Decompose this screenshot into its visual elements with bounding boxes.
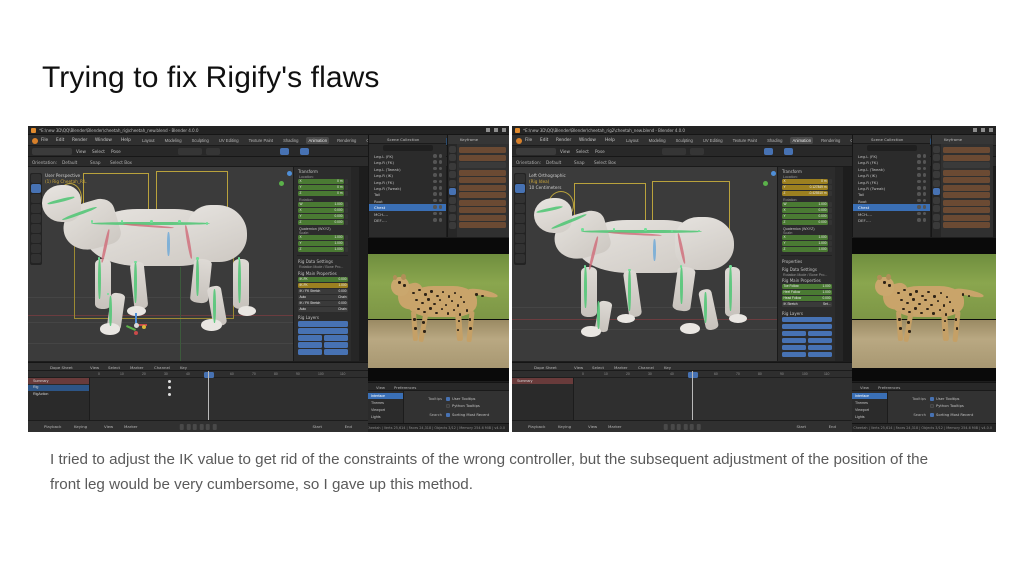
prefs-nav-viewport[interactable]: Viewport	[368, 407, 403, 413]
workspace-tab-animation[interactable]: Animation	[790, 137, 813, 144]
workspace-tab-modeling[interactable]: Modeling	[163, 137, 184, 144]
bone-leg-fl2[interactable]	[597, 301, 600, 329]
view-menu[interactable]: View	[104, 424, 113, 429]
properties-tab-column[interactable]	[448, 144, 457, 237]
outliner-row-10[interactable]: DEF-...	[853, 217, 930, 223]
rig-data-row[interactable]: Rotation Mode / Bone Pro...	[294, 265, 351, 269]
rig-layer-fk-l[interactable]	[782, 338, 806, 344]
workspace-tab-texpaint[interactable]: Texture Paint	[247, 137, 275, 144]
constraint-row-7[interactable]	[459, 200, 506, 206]
rig-layer-fk-l[interactable]	[298, 342, 322, 348]
channel-rig[interactable]: Rig	[28, 385, 89, 391]
field-rotation-z[interactable]: Z0.000	[782, 220, 828, 225]
workspace-tab-layout[interactable]: Layout	[140, 137, 157, 144]
menu-window[interactable]: Window	[579, 138, 596, 143]
constraint-row-3[interactable]	[459, 170, 506, 176]
window-controls[interactable]	[973, 128, 993, 132]
render-icon[interactable]	[439, 160, 443, 164]
preferences-body[interactable]: Tooltips User Tooltips Python Tooltips S…	[888, 391, 996, 423]
data-icon[interactable]	[449, 214, 456, 221]
lock-icon[interactable]	[345, 220, 348, 225]
bone-spine[interactable]	[581, 230, 702, 233]
keyframe[interactable]	[168, 386, 171, 389]
playback-menu[interactable]: Playback	[44, 424, 61, 429]
end-frame-label[interactable]: End	[829, 424, 836, 429]
material-icon[interactable]	[449, 222, 456, 229]
render-icon[interactable]	[923, 218, 927, 222]
viewport-menu-view[interactable]: View	[76, 149, 86, 154]
jump-end-icon[interactable]	[212, 424, 216, 430]
field-rotation-w[interactable]: W1.000	[298, 202, 344, 207]
panel-title-rig-main-properties[interactable]: Rig Main Properties	[778, 277, 835, 285]
constraint-row-0[interactable]	[943, 147, 990, 153]
eye-icon[interactable]	[917, 180, 921, 184]
dopesheet-mode-label[interactable]: Dope Sheet	[50, 365, 73, 370]
field-head-follow[interactable]: Head Follow0.000	[782, 296, 832, 301]
scale-tool-icon[interactable]	[515, 224, 525, 233]
properties-header[interactable]: Keyframe	[448, 135, 509, 144]
prefs-menu-view[interactable]: View	[376, 385, 385, 390]
preferences-window-left[interactable]: View Preferences Interface Themes Viewpo…	[368, 382, 509, 432]
keyframe[interactable]	[168, 380, 171, 383]
rotation-fields[interactable]: W1.000 X0.000 Y0.000 Z0.000	[778, 202, 835, 227]
properties-editor-left[interactable]: Keyframe	[447, 135, 509, 237]
bone-leg-fl[interactable]	[584, 267, 587, 308]
blender-logo-icon[interactable]	[32, 138, 38, 144]
checkbox-icon[interactable]	[446, 413, 450, 417]
outliner-header[interactable]: Scene Collection	[853, 135, 930, 144]
channel-summary[interactable]: Summary	[28, 378, 89, 384]
eye-icon[interactable]	[917, 160, 921, 164]
constraint-row-2[interactable]	[943, 162, 990, 168]
field-location-y[interactable]: Y0.127849 m	[782, 185, 828, 190]
playback-transport-controls[interactable]	[664, 424, 701, 430]
playhead[interactable]	[208, 371, 209, 420]
dopesheet-menu-select[interactable]: Select	[592, 365, 604, 370]
timeline-footer[interactable]: Playback Keying View Marker Start End	[512, 420, 852, 432]
dopesheet-frame-ruler[interactable]: 0 10 20 30 40 60 70 80 90 100 110	[28, 371, 368, 378]
viewport-3d-left[interactable]: User Perspective (1) Rig Cheetah_R.L	[28, 167, 311, 361]
prefs-nav-lights[interactable]: Lights	[852, 414, 887, 420]
blender-logo-icon[interactable]	[516, 138, 522, 144]
render-icon[interactable]	[439, 186, 443, 190]
toolbar-left[interactable]	[514, 173, 526, 265]
checkbox-icon[interactable]	[930, 404, 934, 408]
render-icon[interactable]	[923, 154, 927, 158]
bone-leg-fl[interactable]	[98, 259, 101, 299]
playback-transport-controls[interactable]	[180, 424, 217, 430]
constraint-row-10[interactable]	[943, 222, 990, 228]
rotate-tool-icon[interactable]	[31, 214, 41, 223]
prefs-sorting-checkbox[interactable]: Sorting Most Recent	[930, 413, 973, 417]
viewport-menu-select[interactable]: Select	[92, 149, 105, 154]
checkbox-icon[interactable]	[446, 397, 450, 401]
render-icon[interactable]	[923, 192, 927, 196]
constraint-row-8[interactable]	[943, 207, 990, 213]
dopesheet-menu-view[interactable]: View	[90, 365, 99, 370]
next-keyframe-icon[interactable]	[206, 424, 210, 430]
panel-title-rig-data-settings[interactable]: Rig Data Settings	[778, 265, 835, 273]
constraint-row-5[interactable]	[943, 185, 990, 191]
rig-layer-fk-r[interactable]	[324, 342, 348, 348]
sidebar-n-panel-left[interactable]: Transform Location: X0 m Y0 m Z0 m Rotat…	[293, 167, 351, 361]
field-scale-y[interactable]: Y1.000	[298, 241, 344, 246]
snap-toggle[interactable]	[690, 148, 704, 155]
field-location-y[interactable]: Y0 m	[298, 185, 344, 190]
outliner-left[interactable]: Scene Collection Leg.L (FK) Leg.R (FK) L…	[368, 135, 446, 237]
render-icon[interactable]	[449, 154, 456, 161]
scale-tool-icon[interactable]	[31, 224, 41, 233]
field-rotation-x[interactable]: X0.000	[298, 208, 344, 213]
eye-icon[interactable]	[433, 160, 437, 164]
prefs-sorting-checkbox[interactable]: Sorting Most Recent	[446, 413, 489, 417]
lock-icon[interactable]	[345, 241, 348, 246]
prefs-menu-preferences[interactable]: Preferences	[394, 385, 416, 390]
rig-layer-chest[interactable]	[782, 324, 832, 330]
preferences-nav[interactable]: Interface Themes Viewport Lights	[368, 391, 404, 423]
prefs-python-tooltips-checkbox[interactable]: Python Tooltips	[930, 404, 964, 408]
render-icon[interactable]	[439, 173, 443, 177]
prefs-menu-view[interactable]: View	[860, 385, 869, 390]
field-location-z[interactable]: Z-0.425510 m	[782, 191, 828, 196]
rig-layer-fk-r[interactable]	[808, 338, 832, 344]
keying-menu[interactable]: Keying	[558, 424, 571, 429]
properties-tab-column[interactable]	[932, 144, 941, 237]
eye-icon[interactable]	[917, 192, 921, 196]
rig-layer-tweak-l[interactable]	[782, 345, 806, 351]
jump-end-icon[interactable]	[696, 424, 700, 430]
minimize-icon[interactable]	[486, 128, 490, 132]
outliner-display-mode[interactable]: Scene Collection	[387, 137, 419, 142]
jump-start-icon[interactable]	[180, 424, 184, 430]
field-rotation-z[interactable]: Z0.000	[298, 220, 344, 225]
output-icon[interactable]	[933, 163, 940, 170]
lock-icon[interactable]	[345, 191, 348, 196]
view-layer-icon[interactable]	[449, 171, 456, 178]
lock-icon[interactable]	[829, 202, 832, 207]
dopesheet-channel-list[interactable]: Summary	[512, 378, 574, 420]
select-box-label[interactable]: Select Box	[110, 160, 132, 165]
jump-start-icon[interactable]	[664, 424, 668, 430]
panel-title-rig-main-properties[interactable]: Rig Main Properties	[294, 269, 351, 277]
tweak-tool-icon[interactable]	[515, 174, 525, 183]
preferences-body[interactable]: Tooltips User Tooltips Python Tooltips S…	[404, 391, 509, 423]
workspace-tab-animation[interactable]: Animation	[306, 137, 329, 144]
transform-pivot-selector[interactable]	[662, 148, 686, 155]
rig-main-properties-rows[interactable]: IK-FK0.000 IK-FK1.000 IK / FK Stretch0.0…	[294, 277, 351, 314]
transform-pivot-selector[interactable]	[178, 148, 202, 155]
eye-icon[interactable]	[917, 205, 921, 209]
render-icon[interactable]	[439, 154, 443, 158]
bone-leg-bl2[interactable]	[213, 289, 216, 323]
preferences-header[interactable]: View Preferences	[368, 383, 509, 391]
rigged-character-model[interactable]	[532, 189, 756, 345]
keying-menu[interactable]: Keying	[74, 424, 87, 429]
render-icon[interactable]	[439, 218, 443, 222]
workspace-tab-shading[interactable]: Shading	[765, 137, 784, 144]
field-rotation-y[interactable]: Y0.000	[782, 214, 828, 219]
render-icon[interactable]	[923, 160, 927, 164]
close-icon[interactable]	[502, 128, 506, 132]
proportional-edit-toggle[interactable]	[764, 148, 773, 155]
lock-icon[interactable]	[829, 241, 832, 246]
prefs-python-tooltips-checkbox[interactable]: Python Tooltips	[446, 404, 480, 408]
outliner-search-input[interactable]	[383, 145, 433, 151]
field-toe-follow[interactable]: Toe Follow1.000	[782, 284, 832, 289]
tool-icon[interactable]	[449, 146, 456, 153]
constraint-icon[interactable]	[449, 205, 456, 212]
outliner-right[interactable]: Scene Collection Leg.L (FK) Leg.R (FK) L…	[852, 135, 930, 237]
preferences-header[interactable]: View Preferences	[852, 383, 996, 391]
render-icon[interactable]	[933, 154, 940, 161]
modifier-icon[interactable]	[933, 197, 940, 204]
constraint-row-4[interactable]	[459, 177, 506, 183]
dopesheet-header[interactable]: Dope Sheet View Select Marker Channel Ke…	[28, 363, 368, 371]
rig-layer-tweak-r[interactable]	[808, 345, 832, 351]
lock-icon[interactable]	[345, 179, 348, 184]
play-reverse-icon[interactable]	[193, 424, 197, 430]
menu-help[interactable]: Help	[605, 138, 615, 143]
rig-layer-head-ik[interactable]	[298, 335, 322, 341]
workspace-tab-layout[interactable]: Layout	[624, 137, 641, 144]
constraint-row-1[interactable]	[943, 155, 990, 161]
play-icon[interactable]	[683, 424, 687, 430]
eye-icon[interactable]	[433, 180, 437, 184]
dopesheet-channel-list[interactable]: Summary Rig RigAction	[28, 378, 90, 420]
panel-title-rig-data-settings[interactable]: Rig Data Settings	[294, 258, 351, 266]
rigged-character-model[interactable]	[40, 175, 270, 343]
end-frame-label[interactable]: End	[345, 424, 352, 429]
checkbox-icon[interactable]	[446, 404, 450, 408]
eye-icon[interactable]	[433, 186, 437, 190]
menu-help[interactable]: Help	[121, 138, 131, 143]
render-icon[interactable]	[439, 205, 443, 209]
prefs-nav-themes[interactable]: Themes	[368, 400, 403, 406]
rig-layer-chest[interactable]	[298, 328, 348, 334]
prev-keyframe-icon[interactable]	[186, 424, 190, 430]
render-icon[interactable]	[923, 199, 927, 203]
checkbox-icon[interactable]	[930, 397, 934, 401]
menu-file[interactable]: File	[525, 138, 532, 143]
field-scale-x[interactable]: X1.000	[298, 235, 344, 240]
mode-selector[interactable]	[516, 148, 556, 155]
viewport-3d-right[interactable]: Left Orthographic (Rig Idea) 10 Centimet…	[512, 167, 795, 361]
rig-data-row[interactable]: Rotation Mode / Bone Pro...	[778, 273, 835, 277]
move-tool-icon[interactable]	[515, 204, 525, 213]
eye-icon[interactable]	[433, 218, 437, 222]
constraint-row-6[interactable]	[943, 192, 990, 198]
bone-leg-fl2[interactable]	[109, 296, 112, 326]
field-ikfk-1[interactable]: IK-FK1.000	[298, 283, 348, 288]
panel-title-rig-layers[interactable]: Rig Layers	[778, 309, 835, 317]
object-icon[interactable]	[449, 188, 456, 195]
render-icon[interactable]	[923, 205, 927, 209]
panel-title-rig-layers[interactable]: Rig Layers	[294, 314, 351, 322]
scene-icon[interactable]	[933, 180, 940, 187]
view-menu[interactable]: View	[588, 424, 597, 429]
rig-layer-spine[interactable]	[782, 317, 832, 323]
bone-leg-br[interactable]	[729, 267, 732, 311]
dopesheet-menu-marker[interactable]: Marker	[614, 365, 627, 370]
prefs-nav-interface[interactable]: Interface	[852, 393, 887, 399]
field-heel-follow[interactable]: Heel Follow1.000	[782, 290, 832, 295]
start-frame-label[interactable]: Start	[796, 424, 806, 429]
constraint-row-5[interactable]	[459, 185, 506, 191]
orientation-value[interactable]: Default	[546, 160, 561, 165]
constraint-row-4[interactable]	[943, 177, 990, 183]
workspace-tab-modeling[interactable]: Modeling	[647, 137, 668, 144]
panel-title-transform[interactable]: Transform	[778, 167, 835, 175]
rig-layer-tweak-l[interactable]	[298, 349, 322, 355]
render-icon[interactable]	[923, 173, 927, 177]
eye-icon[interactable]	[917, 186, 921, 190]
properties-editor-right[interactable]: Keyframe	[931, 135, 993, 237]
constraint-row-8[interactable]	[459, 207, 506, 213]
prefs-nav-interface[interactable]: Interface	[368, 393, 403, 399]
field-scale-z[interactable]: Z1.000	[782, 247, 828, 252]
lock-icon[interactable]	[345, 235, 348, 240]
workspace-tab-shading[interactable]: Shading	[281, 137, 300, 144]
location-fields[interactable]: X0 m Y0.127849 m Z-0.425510 m	[778, 179, 835, 198]
constraint-row-10[interactable]	[459, 222, 506, 228]
lock-icon[interactable]	[345, 247, 348, 252]
eye-icon[interactable]	[433, 212, 437, 216]
rig-layer-arm-r-ik[interactable]	[808, 331, 832, 337]
channel-summary[interactable]: Summary	[512, 378, 573, 384]
viewport-menu-select[interactable]: Select	[576, 149, 589, 154]
tool-icon[interactable]	[933, 146, 940, 153]
dopesheet-keyframe-area[interactable]	[90, 378, 368, 420]
keyframe[interactable]	[168, 393, 171, 396]
workspace-tab-texpaint[interactable]: Texture Paint	[731, 137, 759, 144]
modifier-icon[interactable]	[449, 197, 456, 204]
field-location-x[interactable]: X0 m	[782, 179, 828, 184]
constraint-row-3[interactable]	[943, 170, 990, 176]
panel-title-transform[interactable]: Transform	[294, 167, 351, 175]
prefs-nav-lights[interactable]: Lights	[368, 414, 403, 420]
rig-layer-tweak-r[interactable]	[324, 349, 348, 355]
prefs-user-tooltips-checkbox[interactable]: User Tooltips	[446, 397, 475, 401]
outliner-row-10[interactable]: DEF-...	[369, 217, 446, 223]
playhead[interactable]	[692, 371, 693, 420]
constraint-row-9[interactable]	[459, 215, 506, 221]
field-rotation-w[interactable]: W1.000	[782, 202, 828, 207]
scene-icon[interactable]	[449, 180, 456, 187]
render-icon[interactable]	[439, 167, 443, 171]
bone-ik-target[interactable]	[653, 239, 656, 261]
render-icon[interactable]	[439, 192, 443, 196]
toolbar-left[interactable]	[30, 173, 42, 265]
eye-icon[interactable]	[917, 199, 921, 203]
rig-layer-head-ik[interactable]	[782, 331, 806, 337]
menu-file[interactable]: File	[41, 138, 48, 143]
next-keyframe-icon[interactable]	[690, 424, 694, 430]
xray-toggle[interactable]	[300, 148, 309, 155]
dopesheet-menu-key[interactable]: Key	[180, 365, 187, 370]
rig-layer-leg-l-ik[interactable]	[782, 352, 806, 358]
eye-icon[interactable]	[433, 154, 437, 158]
bone-leg-br[interactable]	[238, 259, 241, 303]
minimize-icon[interactable]	[973, 128, 977, 132]
transform-tool-icon[interactable]	[515, 234, 525, 243]
scale-fields[interactable]: X1.000 Y1.000 Z1.000	[294, 235, 351, 254]
rig-layer-spine[interactable]	[298, 321, 348, 327]
start-frame-label[interactable]: Start	[312, 424, 322, 429]
timeline-footer[interactable]: Playback Keying View Marker Start End	[28, 420, 368, 432]
channel-rig-action[interactable]: RigAction	[28, 391, 89, 397]
outliner-header[interactable]: Scene Collection	[369, 135, 446, 144]
field-ik-stretch[interactable]: IK StretchSet...	[782, 302, 832, 307]
field-location-z[interactable]: Z0 m	[298, 191, 344, 196]
lock-icon[interactable]	[345, 208, 348, 213]
preferences-nav[interactable]: Interface Themes Viewport Lights	[852, 391, 888, 423]
menu-render[interactable]: Render	[72, 138, 87, 143]
rotate-tool-icon[interactable]	[515, 214, 525, 223]
prefs-menu-preferences[interactable]: Preferences	[878, 385, 900, 390]
play-reverse-icon[interactable]	[677, 424, 681, 430]
select-box-icon[interactable]	[31, 184, 41, 193]
field-location-x[interactable]: X0 m	[298, 179, 344, 184]
constraint-row-9[interactable]	[943, 215, 990, 221]
rig-main-properties-rows[interactable]: Toe Follow1.000 Heel Follow1.000 Head Fo…	[778, 284, 835, 309]
dopesheet-menu-view[interactable]: View	[574, 365, 583, 370]
dopesheet-mode-label[interactable]: Dope Sheet	[534, 365, 557, 370]
mode-selector[interactable]	[32, 148, 72, 155]
view-layer-icon[interactable]	[933, 171, 940, 178]
eye-icon[interactable]	[433, 167, 437, 171]
render-icon[interactable]	[923, 180, 927, 184]
annotate-tool-icon[interactable]	[31, 244, 41, 253]
lock-icon[interactable]	[829, 179, 832, 184]
render-icon[interactable]	[923, 167, 927, 171]
dopesheet-menu-channel[interactable]: Channel	[638, 365, 654, 370]
viewport-menu-pose[interactable]: Pose	[595, 149, 605, 154]
play-icon[interactable]	[199, 424, 203, 430]
workspace-tab-sculpting[interactable]: Sculpting	[190, 137, 211, 144]
dopesheet-keyframe-area[interactable]	[574, 378, 852, 420]
lock-icon[interactable]	[829, 185, 832, 190]
measure-tool-icon[interactable]	[31, 254, 41, 263]
dopesheet-menu-key[interactable]: Key	[664, 365, 671, 370]
dopesheet-menu-marker[interactable]: Marker	[130, 365, 143, 370]
select-box-label[interactable]: Select Box	[594, 160, 616, 165]
field-rotation-y[interactable]: Y0.000	[298, 214, 344, 219]
snap-label[interactable]: Snap	[90, 160, 101, 165]
lock-icon[interactable]	[829, 214, 832, 219]
move-tool-icon[interactable]	[31, 204, 41, 213]
constraint-row-6[interactable]	[459, 192, 506, 198]
marker-menu[interactable]: Marker	[124, 424, 137, 429]
outliner-display-mode[interactable]: Scene Collection	[871, 137, 903, 142]
constraint-row-1[interactable]	[459, 155, 506, 161]
menu-render[interactable]: Render	[556, 138, 571, 143]
measure-tool-icon[interactable]	[515, 254, 525, 263]
eye-icon[interactable]	[433, 192, 437, 196]
dopesheet-editor-left[interactable]: Dope Sheet View Select Marker Channel Ke…	[28, 362, 368, 432]
menu-window[interactable]: Window	[95, 138, 112, 143]
window-controls[interactable]	[486, 128, 506, 132]
lock-icon[interactable]	[345, 185, 348, 190]
field-ik-stretch-1[interactable]: IK / FK Stretch0.000	[298, 301, 348, 306]
maximize-icon[interactable]	[494, 128, 498, 132]
lock-icon[interactable]	[345, 202, 348, 207]
properties-header[interactable]: Keyframe	[932, 135, 993, 144]
dopesheet-header[interactable]: Dope Sheet View Select Marker Channel Ke…	[512, 363, 852, 371]
xray-toggle[interactable]	[784, 148, 793, 155]
prev-keyframe-icon[interactable]	[670, 424, 674, 430]
viewport-menu-view[interactable]: View	[560, 149, 570, 154]
render-icon[interactable]	[439, 180, 443, 184]
